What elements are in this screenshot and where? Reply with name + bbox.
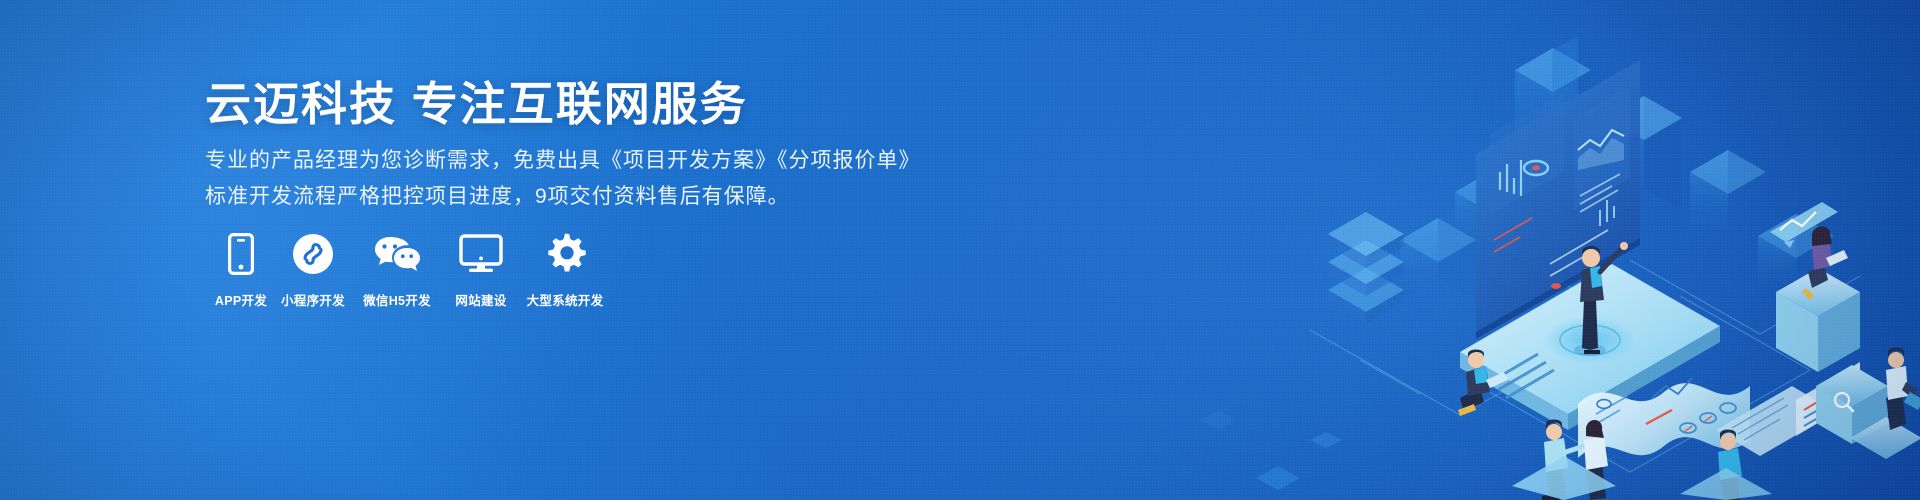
service-item-miniprogram[interactable]: 小程序开发: [277, 232, 349, 308]
service-label: 微信H5开发: [363, 294, 431, 308]
gear-icon: [544, 232, 586, 276]
server-stack: [1328, 212, 1404, 324]
hero-copy: 云迈科技 专注互联网服务 专业的产品经理为您诊断需求，免费出具《项目开发方案》《…: [205, 0, 925, 500]
page-title: 云迈科技 专注互联网服务: [205, 76, 748, 132]
person-with-briefcase: [1886, 348, 1920, 431]
service-item-app[interactable]: APP开发: [205, 232, 277, 308]
service-label: APP开发: [215, 294, 267, 308]
floating-diamonds: [1200, 410, 1342, 490]
service-item-website[interactable]: 网站建设: [445, 232, 517, 308]
service-item-wechat-h5[interactable]: 微信H5开发: [349, 232, 445, 308]
subtitle-line-2: 标准开发流程严格把控项目进度，9项交付资料售后有保障。: [205, 182, 790, 212]
monitor-icon: [459, 232, 503, 276]
service-item-large-system[interactable]: 大型系统开发: [517, 232, 613, 308]
subtitle-line-1: 专业的产品经理为您诊断需求，免费出具《项目开发方案》《分项报价单》: [205, 146, 921, 176]
hero-banner: 云迈科技 专注互联网服务 专业的产品经理为您诊断需求，免费出具《项目开发方案》《…: [0, 0, 1920, 500]
service-label: 小程序开发: [281, 294, 345, 308]
service-label: 网站建设: [455, 294, 506, 308]
mobile-phone-icon: [228, 232, 254, 276]
service-label: 大型系统开发: [527, 294, 604, 308]
mini-program-icon: [292, 232, 334, 276]
service-list: APP开发 小程序开发: [205, 232, 613, 308]
isometric-illustration: [1160, 0, 1920, 500]
wechat-icon: [373, 232, 421, 276]
